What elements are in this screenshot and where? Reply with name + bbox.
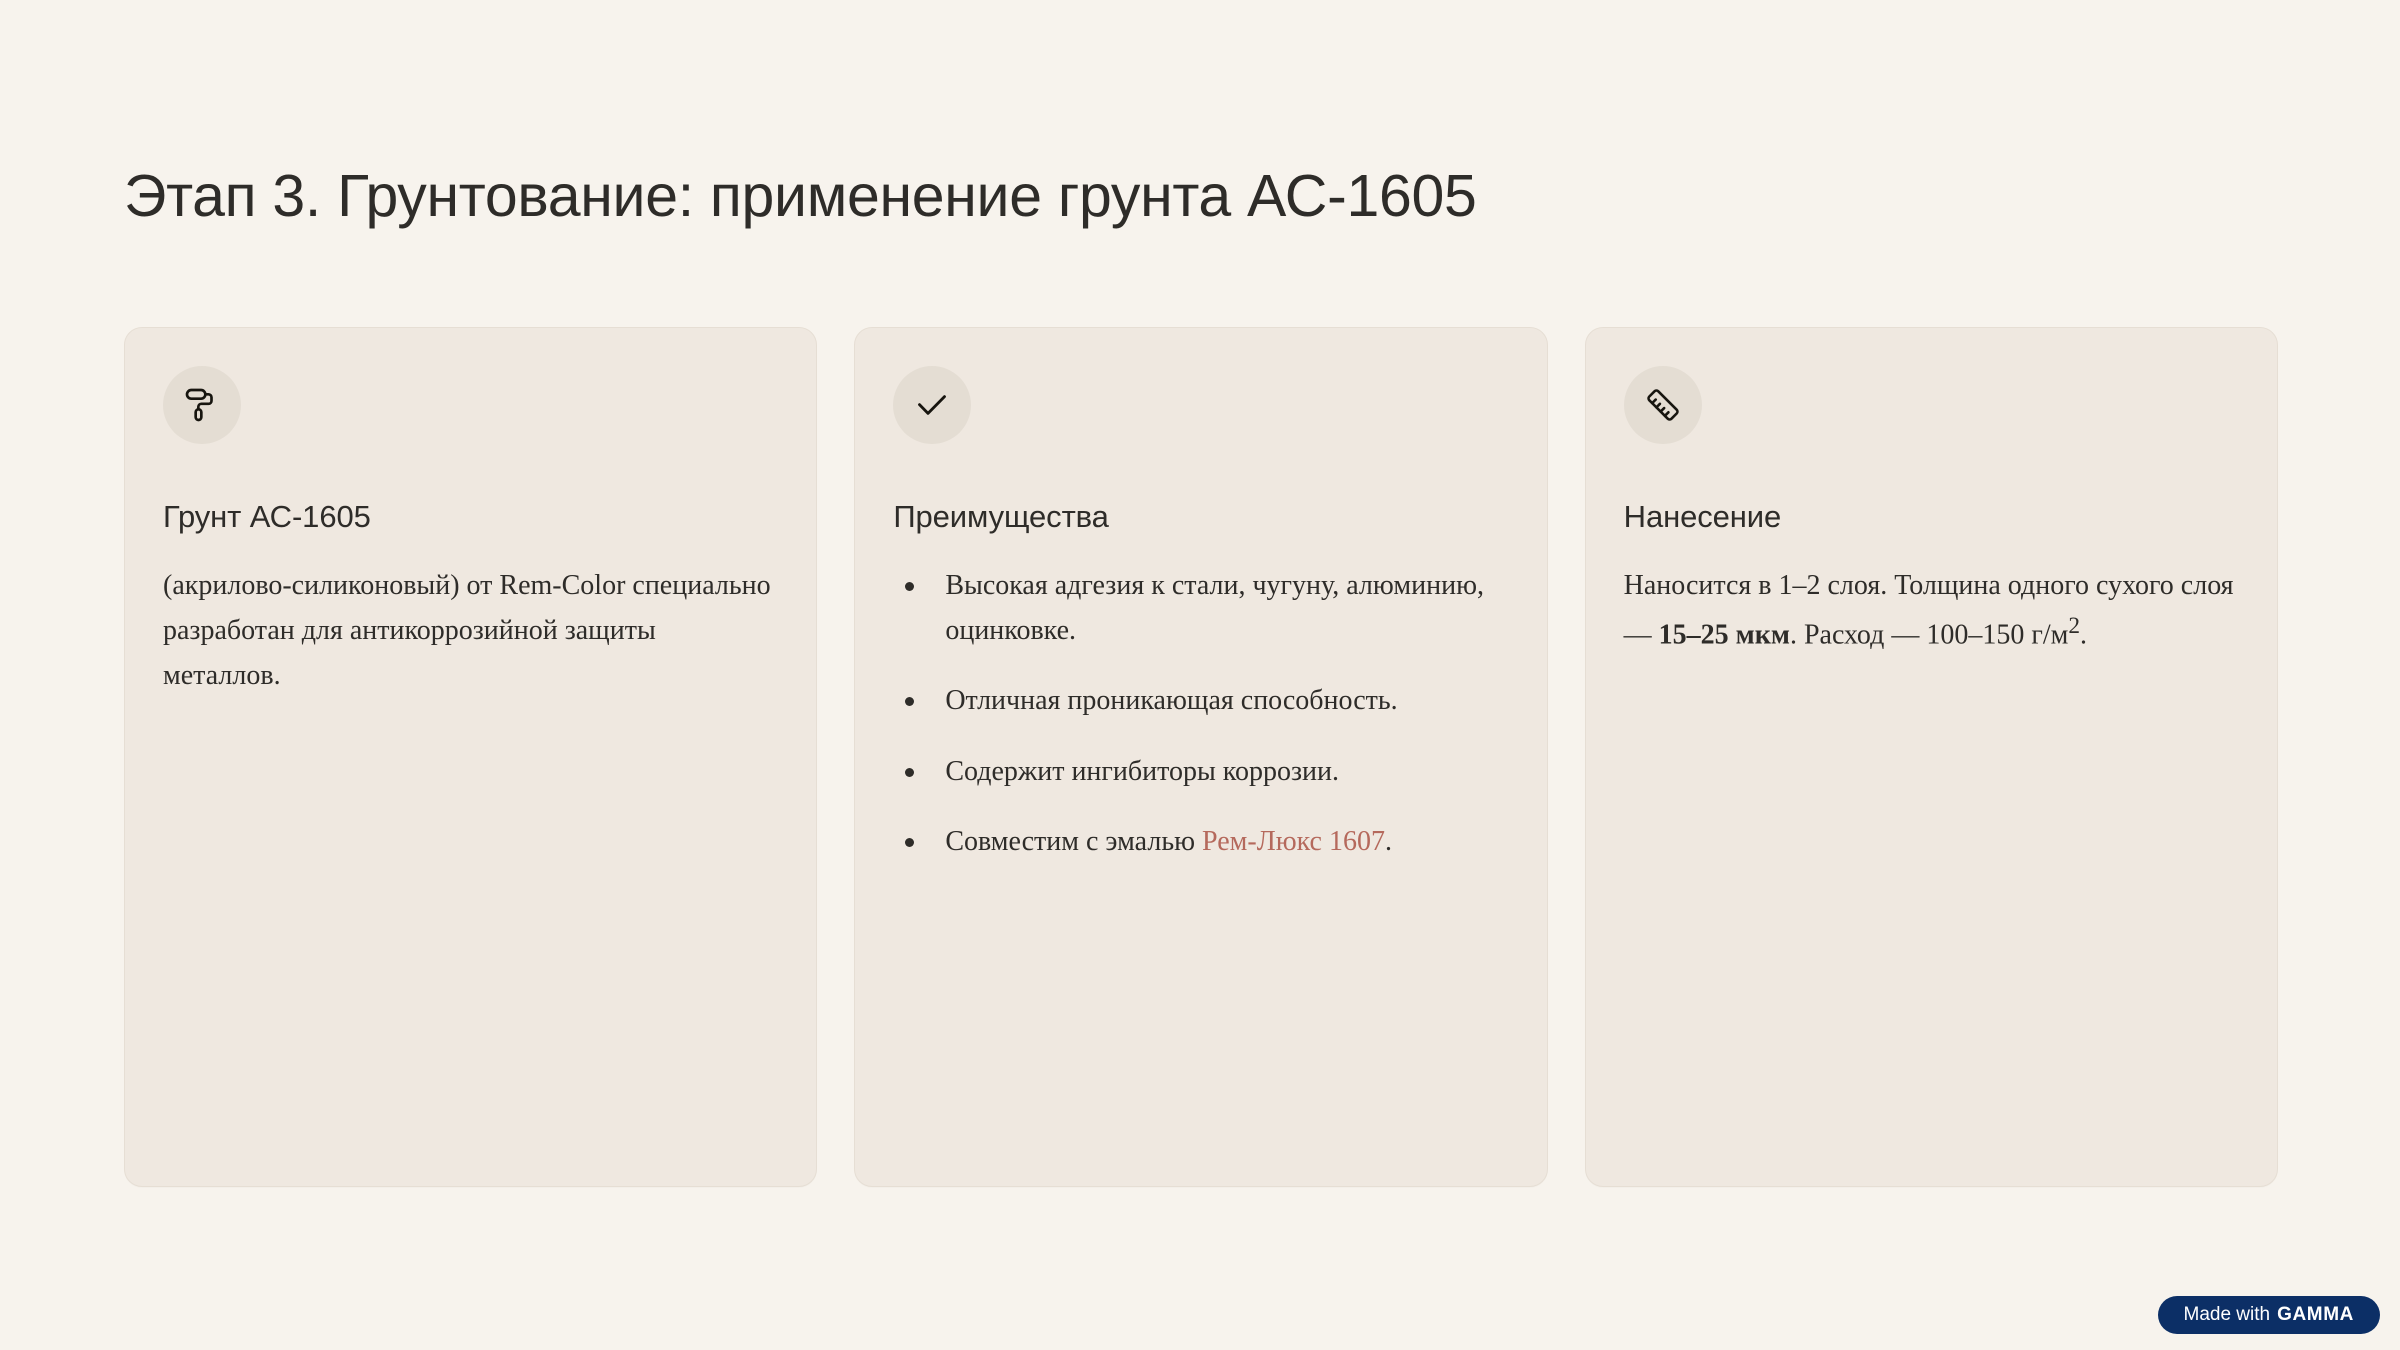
superscript-square: 2	[2068, 613, 2080, 639]
card-title: Нанесение	[1624, 498, 2239, 537]
slide-root: Этап 3. Грунтование: применение грунта А…	[0, 0, 2400, 1350]
badge-prefix-label: Made with	[2184, 1304, 2271, 1326]
link-rem-luks-1607[interactable]: Рем-Люкс 1607	[1202, 826, 1385, 857]
list-item-text: Совместим с эмалью	[945, 826, 1202, 857]
card-preimushchestva: Преимущества Высокая адгезия к стали, чу…	[854, 327, 1547, 1187]
made-with-gamma-badge[interactable]: Made with GAMMA	[2158, 1296, 2381, 1334]
check-icon	[893, 366, 971, 444]
paint-roller-icon	[163, 366, 241, 444]
card-nanesenie: Нанесение Наносится в 1–2 слоя. Толщина …	[1585, 327, 2278, 1187]
card-grunt-ac-1605: Грунт АС-1605 (акрилово-силиконовый) от …	[124, 327, 817, 1187]
card-title: Грунт АС-1605	[163, 498, 778, 537]
page-title: Этап 3. Грунтование: применение грунта А…	[124, 163, 2244, 229]
list-item-text-tail: .	[1385, 826, 1392, 857]
card-body-text-3: .	[2080, 619, 2087, 650]
list-item-text: Высокая адгезия к стали, чугуну, алюмини…	[945, 570, 1484, 646]
ruler-icon	[1624, 366, 1702, 444]
list-item-text: Отличная проникающая способность.	[945, 685, 1397, 716]
gamma-wordmark: GAMMA	[2277, 1304, 2354, 1326]
list-item: Отличная проникающая способность.	[893, 678, 1508, 723]
card-grid: Грунт АС-1605 (акрилово-силиконовый) от …	[124, 327, 2278, 1187]
list-item: Высокая адгезия к стали, чугуну, алюмини…	[893, 563, 1508, 654]
list-item: Совместим с эмалью Рем-Люкс 1607.	[893, 819, 1508, 864]
list-item: Содержит ингибиторы коррозии.	[893, 749, 1508, 794]
benefits-list: Высокая адгезия к стали, чугуну, алюмини…	[893, 563, 1508, 865]
card-body-text-2: . Расход — 100–150 г/м	[1790, 619, 2068, 650]
card-title: Преимущества	[893, 498, 1508, 537]
card-body: Наносится в 1–2 слоя. Толщина одного сух…	[1624, 563, 2239, 658]
card-body-text: (акрилово-силиконовый) от Rem-Color спец…	[163, 570, 771, 692]
card-body: (акрилово-силиконовый) от Rem-Color спец…	[163, 563, 778, 699]
list-item-text: Содержит ингибиторы коррозии.	[945, 756, 1339, 787]
card-body-bold: 15–25 мкм	[1659, 619, 1790, 650]
